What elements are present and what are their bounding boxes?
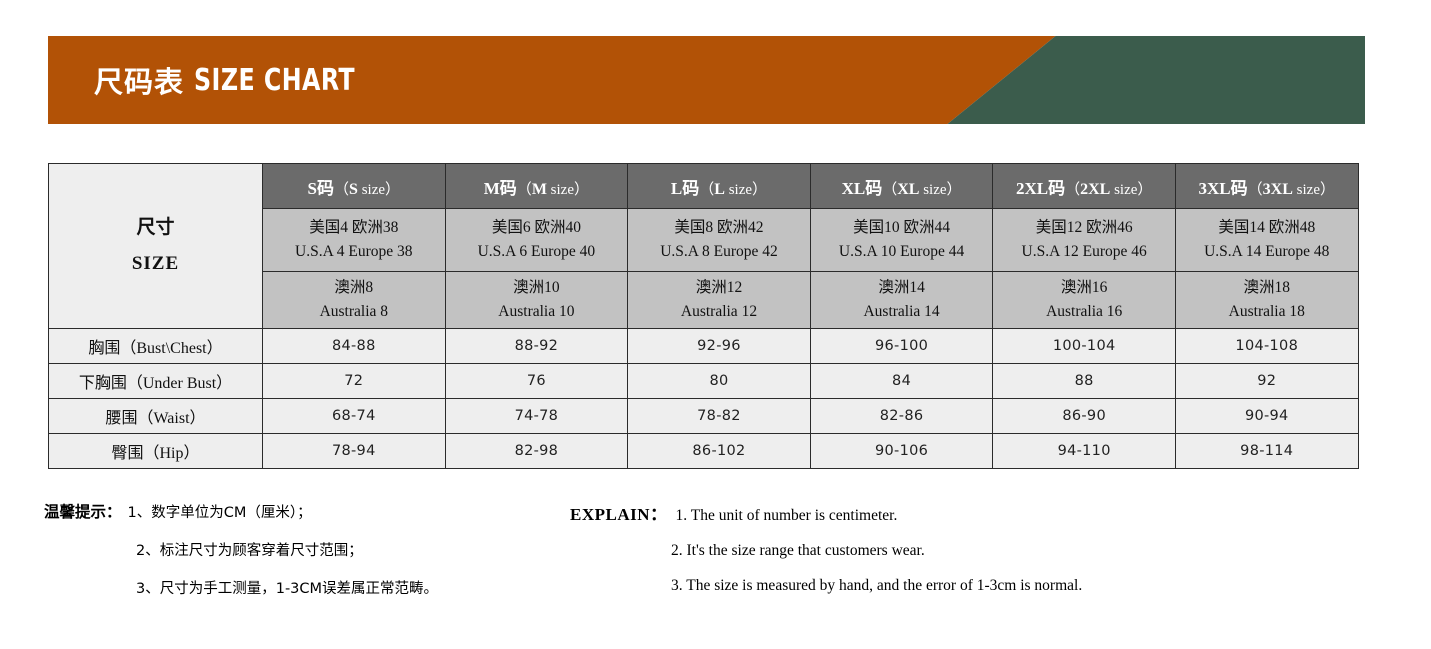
table-row: 胸围（Bust\Chest） 84-88 88-92 92-96 96-100 … — [49, 329, 1359, 364]
size-suffix-xl: 码 — [865, 179, 882, 198]
cell-bust-2xl: 100-104 — [993, 329, 1176, 364]
australia-cell-2xl: 澳洲16 Australia 16 — [993, 272, 1176, 329]
cell-bust-l: 92-96 — [628, 329, 811, 364]
row-label-hip: 臀围（Hip） — [49, 434, 263, 469]
region-en-xl: U.S.A 10 Europe 44 — [811, 240, 993, 264]
note-cn-text-2: 2、标注尺寸为顾客穿着尺寸范围； — [136, 539, 363, 560]
cell-under-bust-l: 80 — [628, 364, 811, 399]
size-suffix-m: 码 — [500, 179, 517, 198]
region-en-3xl: U.S.A 14 Europe 48 — [1176, 240, 1358, 264]
cell-hip-3xl: 98-114 — [1175, 434, 1358, 469]
australia-cn-l: 澳洲12 — [628, 276, 810, 300]
australia-cn-3xl: 澳洲18 — [1176, 276, 1358, 300]
page-title: 尺码表SIZE CHART — [94, 36, 377, 124]
note-en-text-3: 3. The size is measured by hand, and the… — [671, 577, 1082, 595]
size-code-l: L — [671, 179, 682, 198]
size-suffix-l: 码 — [682, 179, 699, 198]
table-row: 腰围（Waist） 68-74 74-78 78-82 82-86 86-90 … — [49, 399, 1359, 434]
cell-under-bust-2xl: 88 — [993, 364, 1176, 399]
size-code-2xl: 2XL — [1016, 179, 1048, 198]
note-cn-line-3: 3、尺寸为手工测量，1-3CM误差属正常范畴。 — [44, 577, 564, 598]
region-cn-xl: 美国10 欧洲44 — [811, 216, 993, 240]
note-cn-text-3: 3、尺寸为手工测量，1-3CM误差属正常范畴。 — [136, 577, 438, 598]
region-cn-s: 美国4 欧洲38 — [263, 216, 445, 240]
australia-cn-2xl: 澳洲16 — [993, 276, 1175, 300]
region-en-l: U.S.A 8 Europe 42 — [628, 240, 810, 264]
cell-hip-m: 82-98 — [445, 434, 628, 469]
cell-under-bust-3xl: 92 — [1175, 364, 1358, 399]
australia-cell-m: 澳洲10 Australia 10 — [445, 272, 628, 329]
region-cell-s: 美国4 欧洲38 U.S.A 4 Europe 38 — [263, 209, 446, 272]
size-chart-table: 尺寸 SIZE S码（S size） M码（M size） L码（L size）… — [48, 163, 1359, 469]
cell-waist-m: 74-78 — [445, 399, 628, 434]
size-paren-2xl: （2XL size） — [1065, 182, 1152, 198]
page-title-cn: 尺码表 — [94, 59, 184, 101]
australia-cell-s: 澳洲8 Australia 8 — [263, 272, 446, 329]
row-label-bust: 胸围（Bust\Chest） — [49, 329, 263, 364]
cell-waist-l: 78-82 — [628, 399, 811, 434]
size-paren-m: （M size） — [517, 182, 589, 198]
cell-hip-xl: 90-106 — [810, 434, 993, 469]
notes-chinese: 温馨提示： 1、数字单位为CM（厘米）； 2、标注尺寸为顾客穿着尺寸范围； 3、… — [44, 500, 564, 615]
note-en-line-2: 2. It's the size range that customers we… — [570, 542, 1330, 560]
note-cn-line-2: 2、标注尺寸为顾客穿着尺寸范围； — [44, 539, 564, 560]
cell-under-bust-m: 76 — [445, 364, 628, 399]
size-paren-xl: （XL size） — [882, 182, 961, 198]
corner-cell-size: 尺寸 SIZE — [49, 164, 263, 329]
australia-cell-l: 澳洲12 Australia 12 — [628, 272, 811, 329]
cell-bust-m: 88-92 — [445, 329, 628, 364]
header-row-size-codes: 尺寸 SIZE S码（S size） M码（M size） L码（L size）… — [49, 164, 1359, 209]
australia-en-m: Australia 10 — [446, 300, 628, 324]
size-paren-s: （S size） — [334, 182, 400, 198]
cell-waist-s: 68-74 — [263, 399, 446, 434]
notes-cn-heading: 温馨提示： — [44, 500, 122, 522]
australia-cell-3xl: 澳洲18 Australia 18 — [1175, 272, 1358, 329]
footer-notes: 温馨提示： 1、数字单位为CM（厘米）； 2、标注尺寸为顾客穿着尺寸范围； 3、… — [0, 500, 1431, 640]
region-cell-m: 美国6 欧洲40 U.S.A 6 Europe 40 — [445, 209, 628, 272]
australia-en-s: Australia 8 — [263, 300, 445, 324]
size-code-3xl: 3XL — [1199, 179, 1231, 198]
region-cell-xl: 美国10 欧洲44 U.S.A 10 Europe 44 — [810, 209, 993, 272]
table-row: 臀围（Hip） 78-94 82-98 86-102 90-106 94-110… — [49, 434, 1359, 469]
note-cn-text-1: 1、数字单位为CM（厘米）； — [128, 501, 312, 522]
region-cell-3xl: 美国14 欧洲48 U.S.A 14 Europe 48 — [1175, 209, 1358, 272]
cell-waist-3xl: 90-94 — [1175, 399, 1358, 434]
size-suffix-2xl: 码 — [1048, 179, 1065, 198]
region-cell-2xl: 美国12 欧洲46 U.S.A 12 Europe 46 — [993, 209, 1176, 272]
region-en-2xl: U.S.A 12 Europe 46 — [993, 240, 1175, 264]
size-header-m: M码（M size） — [445, 164, 628, 209]
size-paren-3xl: （3XL size） — [1248, 182, 1335, 198]
region-cn-l: 美国8 欧洲42 — [628, 216, 810, 240]
size-code-m: M — [484, 179, 500, 198]
note-en-line-3: 3. The size is measured by hand, and the… — [570, 577, 1330, 595]
cell-waist-2xl: 86-90 — [993, 399, 1176, 434]
australia-en-3xl: Australia 18 — [1176, 300, 1358, 324]
australia-cn-m: 澳洲10 — [446, 276, 628, 300]
page-title-en: SIZE CHART — [194, 63, 355, 98]
row-label-waist: 腰围（Waist） — [49, 399, 263, 434]
region-cell-l: 美国8 欧洲42 U.S.A 8 Europe 42 — [628, 209, 811, 272]
cell-hip-l: 86-102 — [628, 434, 811, 469]
cell-under-bust-xl: 84 — [810, 364, 993, 399]
table-head: 尺寸 SIZE S码（S size） M码（M size） L码（L size）… — [49, 164, 1359, 329]
size-header-3xl: 3XL码（3XL size） — [1175, 164, 1358, 209]
note-en-text-2: 2. It's the size range that customers we… — [671, 542, 925, 560]
size-code-s: S — [308, 179, 317, 198]
region-en-m: U.S.A 6 Europe 40 — [446, 240, 628, 264]
size-suffix-s: 码 — [317, 179, 334, 198]
note-en-text-1: 1. The unit of number is centimeter. — [676, 507, 898, 525]
table-row: 下胸围（Under Bust） 72 76 80 84 88 92 — [49, 364, 1359, 399]
australia-en-l: Australia 12 — [628, 300, 810, 324]
size-paren-l: （L size） — [699, 182, 767, 198]
size-header-2xl: 2XL码（2XL size） — [993, 164, 1176, 209]
notes-english: EXPLAIN： 1. The unit of number is centim… — [570, 500, 1330, 612]
notes-en-heading: EXPLAIN： — [570, 500, 668, 525]
note-en-line-1: EXPLAIN： 1. The unit of number is centim… — [570, 500, 1330, 525]
header-banner: 尺码表SIZE CHART — [48, 36, 1365, 124]
size-suffix-3xl: 码 — [1231, 179, 1248, 198]
australia-cn-s: 澳洲8 — [263, 276, 445, 300]
region-en-s: U.S.A 4 Europe 38 — [263, 240, 445, 264]
table-body: 胸围（Bust\Chest） 84-88 88-92 92-96 96-100 … — [49, 329, 1359, 469]
australia-cell-xl: 澳洲14 Australia 14 — [810, 272, 993, 329]
size-header-l: L码（L size） — [628, 164, 811, 209]
corner-label-en: SIZE — [49, 246, 262, 282]
cell-hip-s: 78-94 — [263, 434, 446, 469]
cell-bust-3xl: 104-108 — [1175, 329, 1358, 364]
region-cn-2xl: 美国12 欧洲46 — [993, 216, 1175, 240]
australia-en-2xl: Australia 16 — [993, 300, 1175, 324]
cell-waist-xl: 82-86 — [810, 399, 993, 434]
region-cn-m: 美国6 欧洲40 — [446, 216, 628, 240]
region-cn-3xl: 美国14 欧洲48 — [1176, 216, 1358, 240]
cell-hip-2xl: 94-110 — [993, 434, 1176, 469]
row-label-under-bust: 下胸围（Under Bust） — [49, 364, 263, 399]
corner-label-cn: 尺寸 — [49, 210, 262, 246]
cell-under-bust-s: 72 — [263, 364, 446, 399]
australia-cn-xl: 澳洲14 — [811, 276, 993, 300]
cell-bust-xl: 96-100 — [810, 329, 993, 364]
size-header-xl: XL码（XL size） — [810, 164, 993, 209]
australia-en-xl: Australia 14 — [811, 300, 993, 324]
size-code-xl: XL — [842, 179, 866, 198]
note-cn-line-1: 温馨提示： 1、数字单位为CM（厘米）； — [44, 500, 564, 522]
cell-bust-s: 84-88 — [263, 329, 446, 364]
size-header-s: S码（S size） — [263, 164, 446, 209]
